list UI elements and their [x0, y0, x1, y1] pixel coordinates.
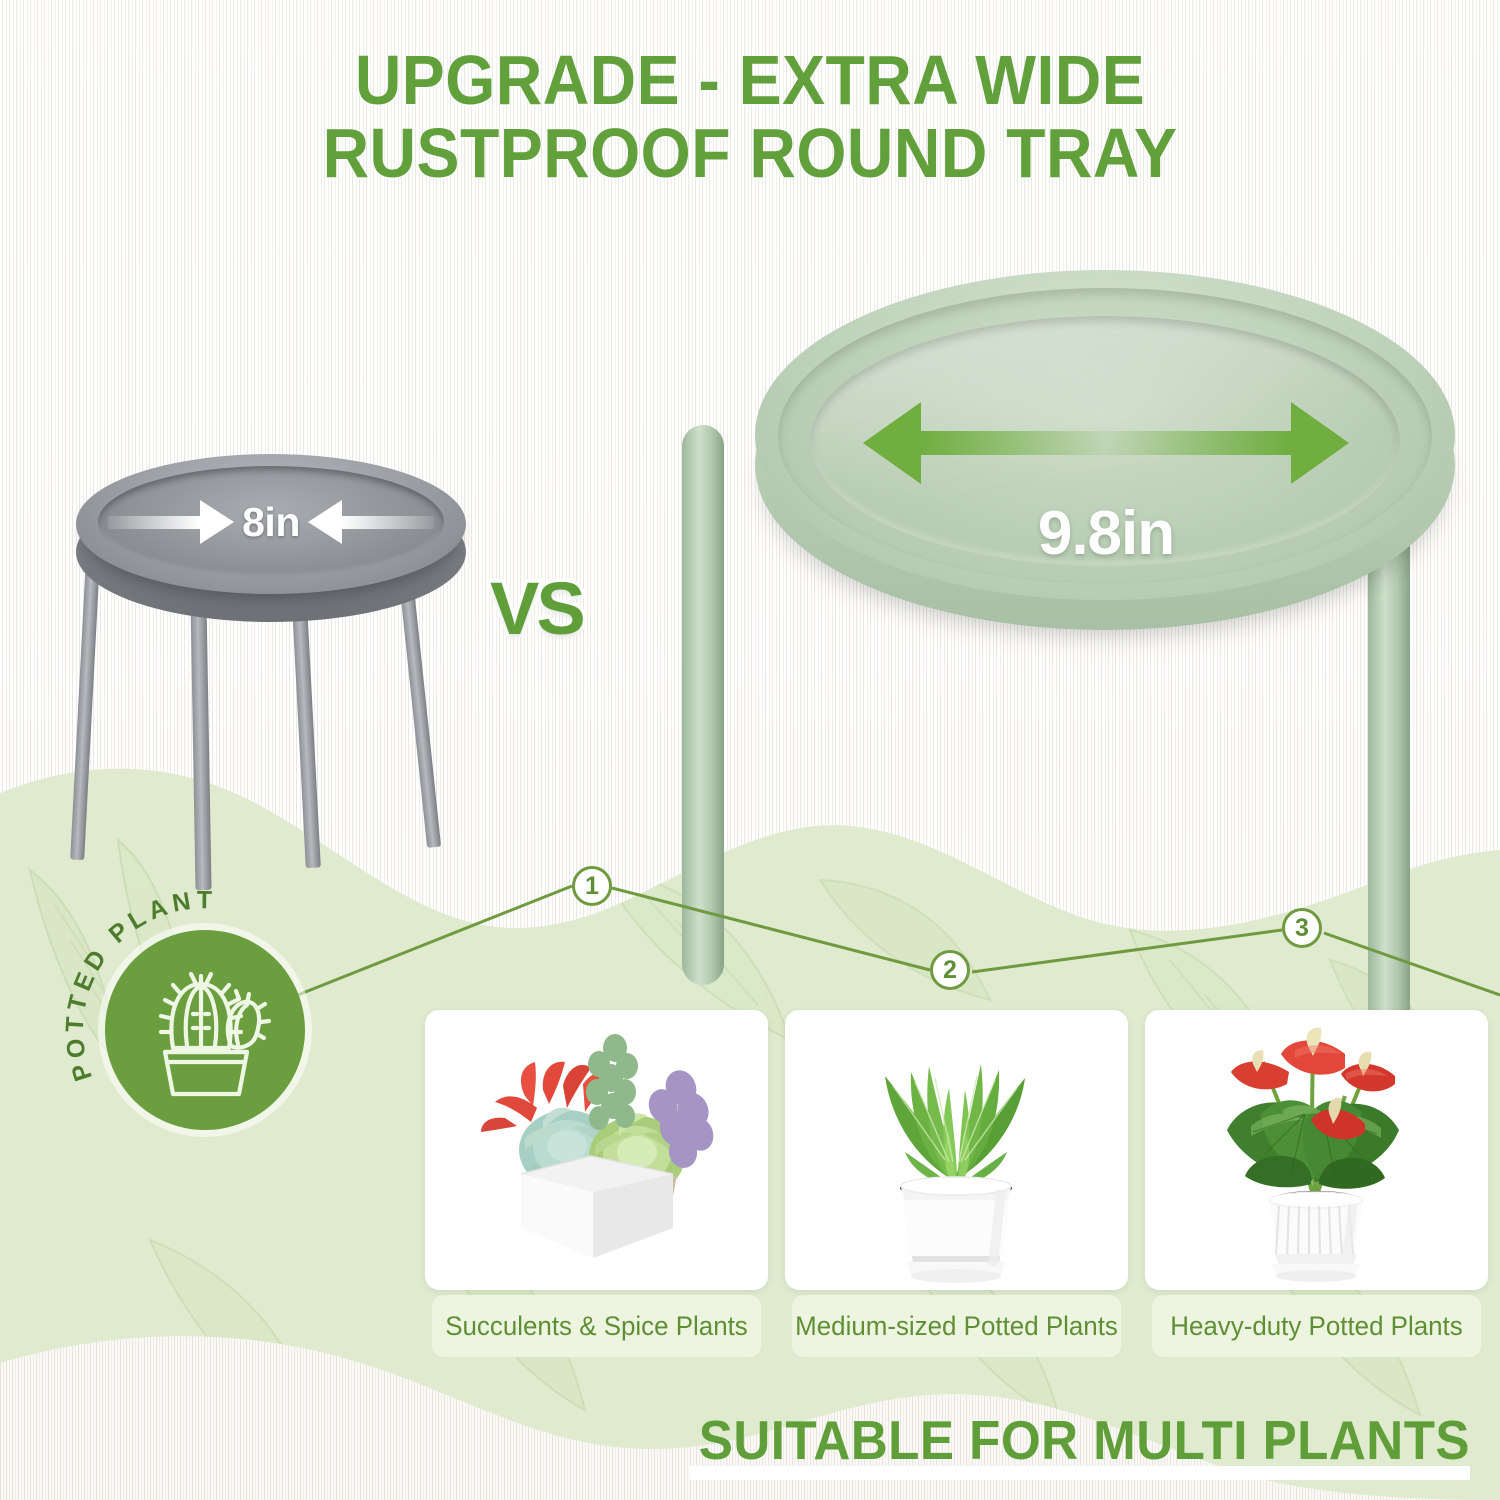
- connector-node-3-label: 3: [1295, 914, 1309, 943]
- upgraded-green-plant-stand: 9.8in: [650, 270, 1470, 910]
- connector-node-2: 2: [930, 950, 970, 990]
- green-tray-diameter-label: 9.8in: [810, 498, 1402, 569]
- plant-card-succulents[interactable]: [425, 1010, 768, 1290]
- arrow-shaft-left-icon: [921, 431, 1106, 455]
- footer-banner-underline: [690, 1466, 1470, 1480]
- footer-banner: SUITABLE FOR MULTI PLANTS: [103, 1408, 1470, 1472]
- badge-curved-label-text: POTTED PLANT: [61, 886, 218, 1084]
- headline-line-2: RUSTPROOF ROUND TRAY: [60, 117, 1440, 190]
- arrow-head-right-icon: [200, 500, 234, 544]
- plant-card-aloe[interactable]: [785, 1010, 1128, 1290]
- plant-caption-heavy-duty: Heavy-duty Potted Plants: [1152, 1295, 1481, 1357]
- connector-node1-to-node2: [612, 888, 930, 970]
- arrow-shaft-right-icon: [1106, 431, 1291, 455]
- vs-badge: VS: [490, 566, 583, 651]
- arrow-head-left-icon: [863, 402, 921, 484]
- green-tray-dimension-arrows: [810, 400, 1402, 486]
- connector-node-1-label: 1: [585, 872, 599, 901]
- grey-leg-left: [70, 560, 100, 860]
- arrow-shaft-right-icon: [342, 516, 434, 529]
- arrow-head-right-icon: [1291, 402, 1349, 484]
- aloe-vera-in-white-round-pot: [785, 1010, 1128, 1290]
- red-anthurium-in-white-ribbed-pot: [1145, 1010, 1488, 1290]
- plant-caption-list: Succulents & Spice Plants Medium-sized P…: [425, 1295, 1490, 1357]
- connector-node-3: 3: [1282, 908, 1322, 948]
- plant-card-anthurium[interactable]: [1145, 1010, 1488, 1290]
- potted-plant-badge: POTTED PLANT: [105, 930, 305, 1130]
- arrow-shaft-left-icon: [108, 516, 200, 529]
- page-title: UPGRADE - EXTRA WIDE RUSTPROOF ROUND TRA…: [60, 44, 1440, 190]
- connector-node-2-label: 2: [943, 956, 957, 985]
- connector-node-1: 1: [572, 866, 612, 906]
- svg-text:POTTED PLANT: POTTED PLANT: [61, 886, 218, 1084]
- plant-card-list: [425, 1010, 1490, 1290]
- plant-caption-medium: Medium-sized Potted Plants: [792, 1295, 1121, 1357]
- competitor-grey-plant-stand: 8in: [60, 440, 480, 860]
- connector-node3-to-card3: [1324, 933, 1500, 995]
- connector-node2-to-node3: [972, 930, 1282, 972]
- colorful-succulents-in-white-hexagonal-pot: [425, 1010, 768, 1290]
- infographic-canvas: UPGRADE - EXTRA WIDE RUSTPROOF ROUND TRA…: [0, 0, 1500, 1500]
- plant-caption-succulents: Succulents & Spice Plants: [432, 1295, 761, 1357]
- grey-tray-diameter-label: 8in: [234, 499, 308, 546]
- grey-tray-dimension-arrows: 8in: [100, 496, 442, 548]
- badge-curved-label: POTTED PLANT: [57, 875, 357, 1175]
- headline-line-1: UPGRADE - EXTRA WIDE: [355, 41, 1145, 119]
- arrow-head-left-icon: [308, 500, 342, 544]
